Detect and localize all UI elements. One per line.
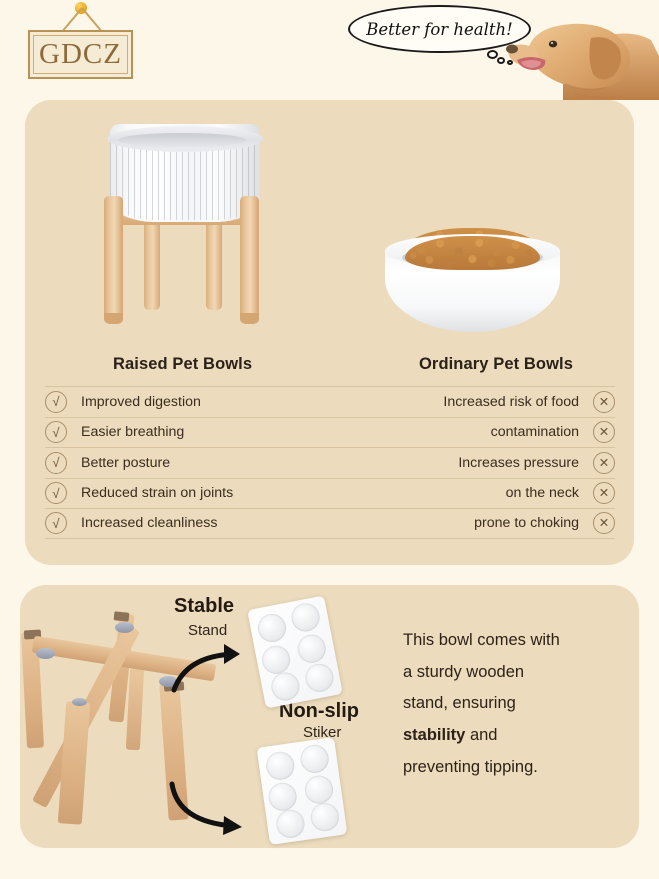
column-header-raised: Raised Pet Bowls xyxy=(113,355,252,374)
stable-label: Stable xyxy=(174,595,234,618)
speech-bubble-text: Better for health! xyxy=(366,20,513,39)
check-icon: √ xyxy=(45,421,67,443)
speech-bubble-dot xyxy=(487,50,498,59)
table-row: √ Reduced strain on joints on the neck ✕ xyxy=(45,478,615,509)
golden-retriever-head-icon xyxy=(505,4,659,100)
benefit-text: Reduced strain on joints xyxy=(67,485,369,501)
stand-foot xyxy=(240,313,259,324)
drawback-text: Increases pressure xyxy=(314,455,593,471)
sticker-pad xyxy=(303,774,335,806)
sticker-pad xyxy=(269,670,302,703)
check-icon: √ xyxy=(45,391,67,413)
speech-bubble-dot xyxy=(497,57,505,64)
drawback-text: on the neck xyxy=(369,485,593,501)
sticker-pad xyxy=(295,632,328,665)
sticker-pad xyxy=(289,601,322,634)
cross-icon: ✕ xyxy=(593,391,615,413)
benefit-text: Improved digestion xyxy=(67,394,322,410)
drawback-text: prone to choking xyxy=(346,515,593,531)
description-line: preventing tipping. xyxy=(403,752,628,784)
logo-plate: GDCZ xyxy=(28,30,133,79)
sticker-pad xyxy=(275,808,307,840)
description-line: This bowl comes with xyxy=(403,625,628,657)
stand-leg xyxy=(58,701,90,824)
benefit-text: Easier breathing xyxy=(67,424,338,440)
cross-icon: ✕ xyxy=(593,512,615,534)
comparison-table-headers: Raised Pet Bowls Ordinary Pet Bowls xyxy=(45,355,615,381)
sticker-pad xyxy=(264,750,296,782)
check-icon: √ xyxy=(45,482,67,504)
cross-icon: ✕ xyxy=(593,452,615,474)
comparison-table-rows: √ Improved digestion Increased risk of f… xyxy=(45,386,615,539)
nonslip-pad xyxy=(115,622,134,633)
benefit-text: Better posture xyxy=(67,455,314,471)
table-row: √ Increased cleanliness prone to choking… xyxy=(45,508,615,539)
sticker-pad xyxy=(309,801,341,833)
ordinary-pet-bowl-photo xyxy=(385,228,560,340)
nonslip-pad xyxy=(72,698,87,706)
description-line: stand, ensuring xyxy=(403,688,628,720)
bowl-rim xyxy=(107,126,263,152)
kibble-food xyxy=(405,236,540,270)
column-header-ordinary: Ordinary Pet Bowls xyxy=(419,355,573,374)
description-line: a sturdy wooden xyxy=(403,657,628,689)
stand-leg xyxy=(104,196,123,324)
stable-sublabel: Stand xyxy=(188,622,227,639)
check-icon: √ xyxy=(45,512,67,534)
stand-leg xyxy=(126,668,144,751)
nonslip-pad xyxy=(36,648,55,659)
logo-text: GDCZ xyxy=(39,40,122,69)
table-row: √ Easier breathing contamination ✕ xyxy=(45,417,615,448)
stand-leg xyxy=(240,196,259,324)
benefit-text: Increased cleanliness xyxy=(67,515,346,531)
bowl-rim-inner xyxy=(118,133,246,147)
table-row: √ Better posture Increases pressure ✕ xyxy=(45,447,615,478)
sticker-pad xyxy=(299,743,331,775)
infographic-page: GDCZ Better for health! xyxy=(0,0,659,879)
drawback-text: Increased risk of food xyxy=(322,394,593,410)
stand-foot xyxy=(104,313,123,324)
speech-bubble: Better for health! xyxy=(348,5,531,53)
sticker-pad xyxy=(303,661,336,694)
arrow-to-stable-stand-icon xyxy=(168,638,268,701)
ceramic-bowl xyxy=(110,124,260,222)
brand-logo: GDCZ xyxy=(28,2,133,82)
description-line-bold: stability and xyxy=(403,720,628,752)
check-icon: √ xyxy=(45,452,67,474)
stand-leg-end xyxy=(114,611,130,622)
raised-pet-bowl-photo xyxy=(88,112,278,344)
feature-description: This bowl comes with a sturdy wooden sta… xyxy=(403,625,628,783)
table-row: √ Improved digestion Increased risk of f… xyxy=(45,386,615,417)
arrow-to-nonslip-sticker-icon xyxy=(164,778,274,843)
bowl-flutes xyxy=(110,142,260,220)
drawback-text: contamination xyxy=(338,424,594,440)
cross-icon: ✕ xyxy=(593,482,615,504)
cross-icon: ✕ xyxy=(593,421,615,443)
description-bold-word: stability xyxy=(403,726,465,744)
description-bold-tail: and xyxy=(465,726,497,744)
